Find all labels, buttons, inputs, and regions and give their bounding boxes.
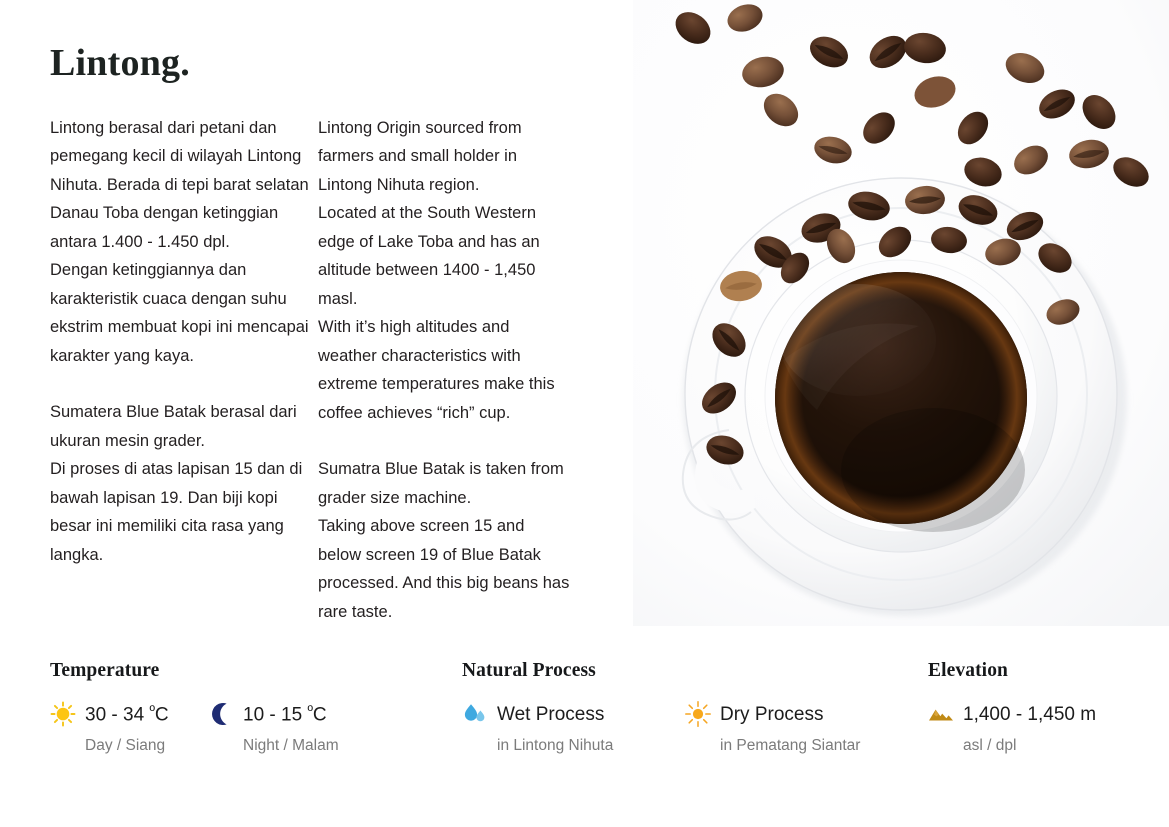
fact-group-temperature: Temperature xyxy=(50,660,339,755)
fact-item-elevation: 1,400 - 1,450 m asl / dpl xyxy=(928,701,1096,755)
fact-items: Wet Process in Lintong Nihuta xyxy=(462,701,860,755)
water-drop-icon xyxy=(462,701,488,727)
sun-icon xyxy=(50,701,76,727)
fact-main: Dry Process xyxy=(685,701,860,727)
fact-value: 10 - 15 ºC xyxy=(243,704,327,725)
column-indonesian: Lintong berasal dari petani dan pemegang… xyxy=(50,114,318,627)
sun-rays-icon xyxy=(685,701,711,727)
copy-block: Lintong. Lintong berasal dari petani dan… xyxy=(50,44,610,626)
fact-sub: in Pematang Siantar xyxy=(685,737,860,755)
fact-heading-temperature: Temperature xyxy=(50,660,339,682)
paragraph: Sumatera Blue Batak berasal dari ukuran … xyxy=(50,398,318,569)
fact-main: 30 - 34 ºC xyxy=(50,701,208,727)
column-english: Lintong Origin sourced from farmers and … xyxy=(318,114,570,627)
fact-heading-natural-process: Natural Process xyxy=(462,660,860,682)
mountain-icon xyxy=(928,701,954,727)
fact-sub: asl / dpl xyxy=(928,737,1096,755)
page-title: Lintong. xyxy=(50,44,610,84)
moon-icon xyxy=(208,701,234,727)
hero-section: Lintong. Lintong berasal dari petani dan… xyxy=(0,0,1169,626)
paragraph: Sumatra Blue Batak is taken from grader … xyxy=(318,455,570,626)
fact-item-wet-process: Wet Process in Lintong Nihuta xyxy=(462,701,685,755)
paragraph: Lintong Origin sourced from farmers and … xyxy=(318,114,570,428)
fact-main: 1,400 - 1,450 m xyxy=(928,701,1096,727)
text-columns: Lintong berasal dari petani dan pemegang… xyxy=(50,114,610,627)
fact-value: 30 - 34 ºC xyxy=(85,704,169,725)
fact-main: 10 - 15 ºC xyxy=(208,701,339,727)
fact-sub: Day / Siang xyxy=(50,737,208,755)
fact-sub: in Lintong Nihuta xyxy=(462,737,685,755)
fact-item-night: 10 - 15 ºC Night / Malam xyxy=(208,701,339,755)
fact-value: Wet Process xyxy=(497,705,604,724)
coffee-cup-photo xyxy=(633,0,1169,626)
fact-value: 1,400 - 1,450 m xyxy=(963,705,1096,724)
fact-item-dry-process: Dry Process in Pematang Siantar xyxy=(685,701,860,755)
fact-group-natural-process: Natural Process Wet Process in Lintong N… xyxy=(462,660,860,755)
fact-group-elevation: Elevation 1,400 - 1,450 m asl / dpl xyxy=(928,660,1096,755)
lintong-coffee-page: Lintong. Lintong berasal dari petani dan… xyxy=(0,0,1169,827)
facts-strip: Temperature xyxy=(0,660,1169,827)
paragraph: Lintong berasal dari petani dan pemegang… xyxy=(50,114,318,371)
fact-items: 1,400 - 1,450 m asl / dpl xyxy=(928,701,1096,755)
fact-value: Dry Process xyxy=(720,705,823,724)
fact-items: 30 - 34 ºC Day / Siang 10 - 15 ºC Night … xyxy=(50,701,339,755)
fact-sub: Night / Malam xyxy=(208,737,339,755)
fact-heading-elevation: Elevation xyxy=(928,660,1096,682)
fact-item-day: 30 - 34 ºC Day / Siang xyxy=(50,701,208,755)
fact-main: Wet Process xyxy=(462,701,685,727)
